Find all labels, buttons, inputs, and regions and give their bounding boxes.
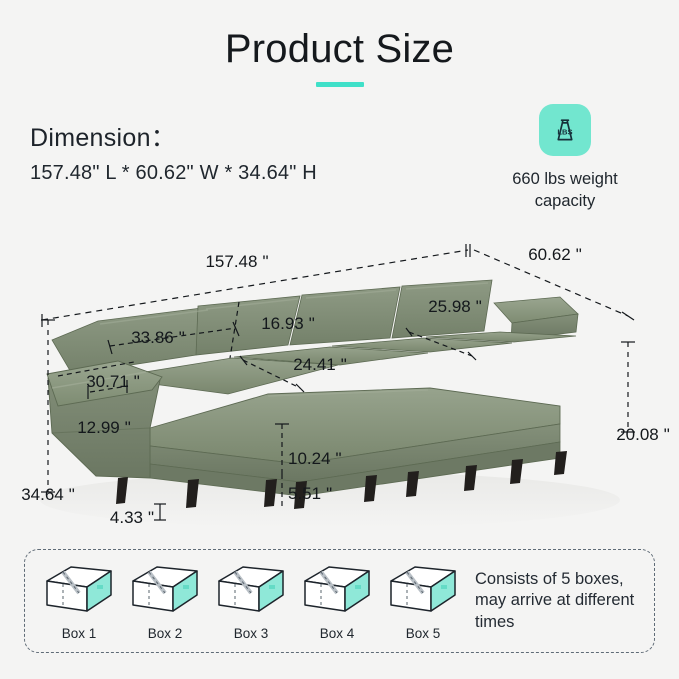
- box-label: Box 4: [299, 626, 375, 641]
- shipping-box-icon: [299, 561, 375, 619]
- svg-text:LBS: LBS: [557, 127, 572, 136]
- box-label: Box 5: [385, 626, 461, 641]
- title-underline-accent: [316, 82, 364, 87]
- lbs-weight-icon: LBS: [539, 104, 591, 156]
- box-label: Box 1: [41, 626, 117, 641]
- box-label: Box 2: [127, 626, 203, 641]
- boxes-note: Consists of 5 boxes, may arrive at diffe…: [475, 569, 654, 633]
- box-label: Box 3: [213, 626, 289, 641]
- dimension-value: 157.48" L * 60.62" W * 34.64" H: [30, 162, 317, 185]
- boxes-row: Box 1 Box 2: [25, 561, 461, 641]
- weight-capacity-block: LBS 660 lbs weight capacity: [485, 104, 645, 213]
- label-base-height: 5.51": [288, 484, 332, 503]
- box-item: Box 2: [127, 561, 203, 641]
- box-item: Box 3: [213, 561, 289, 641]
- page-title: Product Size: [0, 26, 679, 72]
- label-leg-height: 4.33": [110, 508, 154, 527]
- boxes-panel: Box 1 Box 2: [24, 549, 655, 653]
- sofa-illustration: 157.48" 60.62" 25.98" 33.86" 16.93" 24.4…: [0, 228, 679, 538]
- box-item: Box 5: [385, 561, 461, 641]
- shipping-box-icon: [213, 561, 289, 619]
- header: Product Size: [0, 26, 679, 87]
- shipping-box-icon: [41, 561, 117, 619]
- weight-capacity-caption: 660 lbs weight capacity: [485, 168, 645, 213]
- shipping-box-icon: [127, 561, 203, 619]
- dimension-label: Dimension：: [30, 118, 317, 154]
- dimension-block: Dimension： 157.48" L * 60.62" W * 34.64"…: [30, 118, 317, 185]
- shipping-box-icon: [385, 561, 461, 619]
- box-item: Box 4: [299, 561, 375, 641]
- box-item: Box 1: [41, 561, 117, 641]
